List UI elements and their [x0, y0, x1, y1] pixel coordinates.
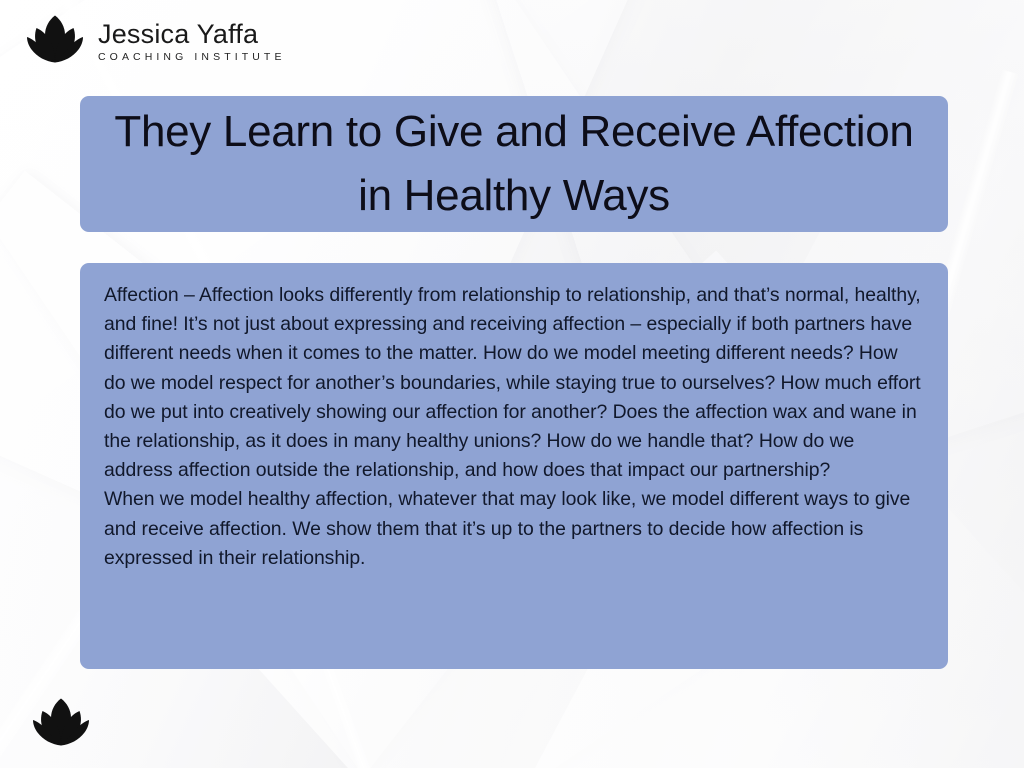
slide-title-panel: They Learn to Give and Receive Affection…	[80, 96, 948, 232]
body-paragraph: When we model healthy affection, whateve…	[104, 485, 924, 573]
slide-body-panel: Affection – Affection looks differently …	[80, 263, 948, 669]
body-paragraph: Affection – Affection looks differently …	[104, 281, 924, 485]
brand-tagline: COACHING INSTITUTE	[98, 52, 286, 63]
brand-logo-header: Jessica Yaffa COACHING INSTITUTE	[24, 14, 286, 69]
brand-wordmark: Jessica Yaffa COACHING INSTITUTE	[98, 21, 286, 63]
lotus-flower-icon	[30, 697, 92, 752]
slide-title: They Learn to Give and Receive Affection…	[80, 100, 948, 228]
brand-name: Jessica Yaffa	[98, 21, 258, 48]
lotus-flower-icon	[24, 14, 86, 69]
brand-logo-footer	[30, 697, 92, 752]
slide-canvas: Jessica Yaffa COACHING INSTITUTE They Le…	[0, 0, 1024, 768]
